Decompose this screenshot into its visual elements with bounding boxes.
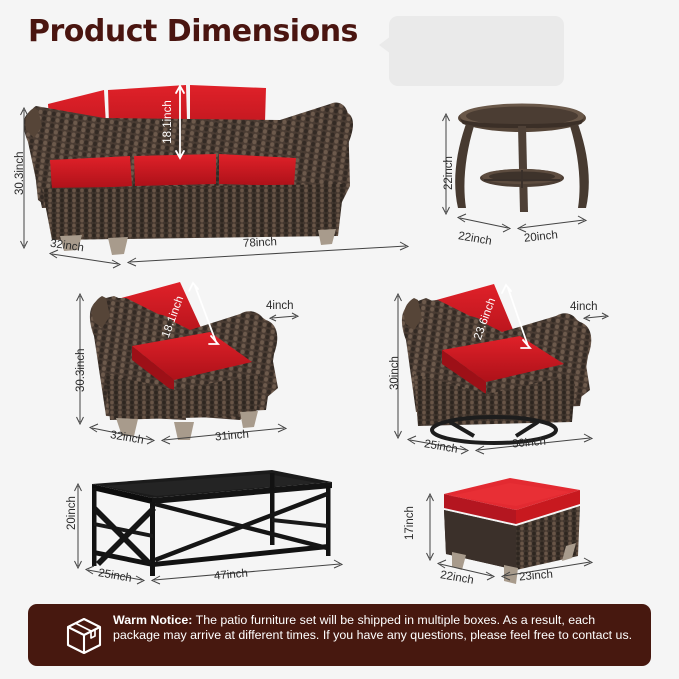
package-box-icon [64,616,104,656]
coffee-table-height-dim: 20inch [66,496,78,530]
ottoman-illustration [400,466,630,586]
warm-notice-text: Warm Notice: The patio furniture set wil… [113,613,633,644]
sofa-illustration: 18.1inch [8,68,418,268]
warm-notice-label: Warm Notice: [113,613,192,627]
side-table-height-dim: 22inch [443,156,455,190]
armchair-illustration: 18.1inch [70,270,370,450]
ottoman-height-dim: 17inch [404,506,416,540]
sofa-height-dim: 30.3inch [14,152,26,195]
infographic-canvas: Product Dimensions 300 lbs Weight Capaci… [0,0,679,679]
page-title: Product Dimensions [28,14,358,49]
swivel-chair-height-dim: 30inch [389,356,401,390]
armchair-thickness-dim: 4inch [266,300,294,312]
side-table-illustration [440,96,600,246]
swivel-chair-thickness-dim: 4inch [570,301,598,313]
swivel-chair-illustration: 23.6inch [390,270,660,450]
sofa-width-dim: 78inch [243,236,277,250]
sofa-cushion-dim: 18.1inch [162,100,174,143]
warm-notice-banner: Warm Notice: The patio furniture set wil… [28,604,651,666]
coffee-table-illustration [60,462,360,582]
armchair-height-dim: 30.3inch [75,349,87,392]
